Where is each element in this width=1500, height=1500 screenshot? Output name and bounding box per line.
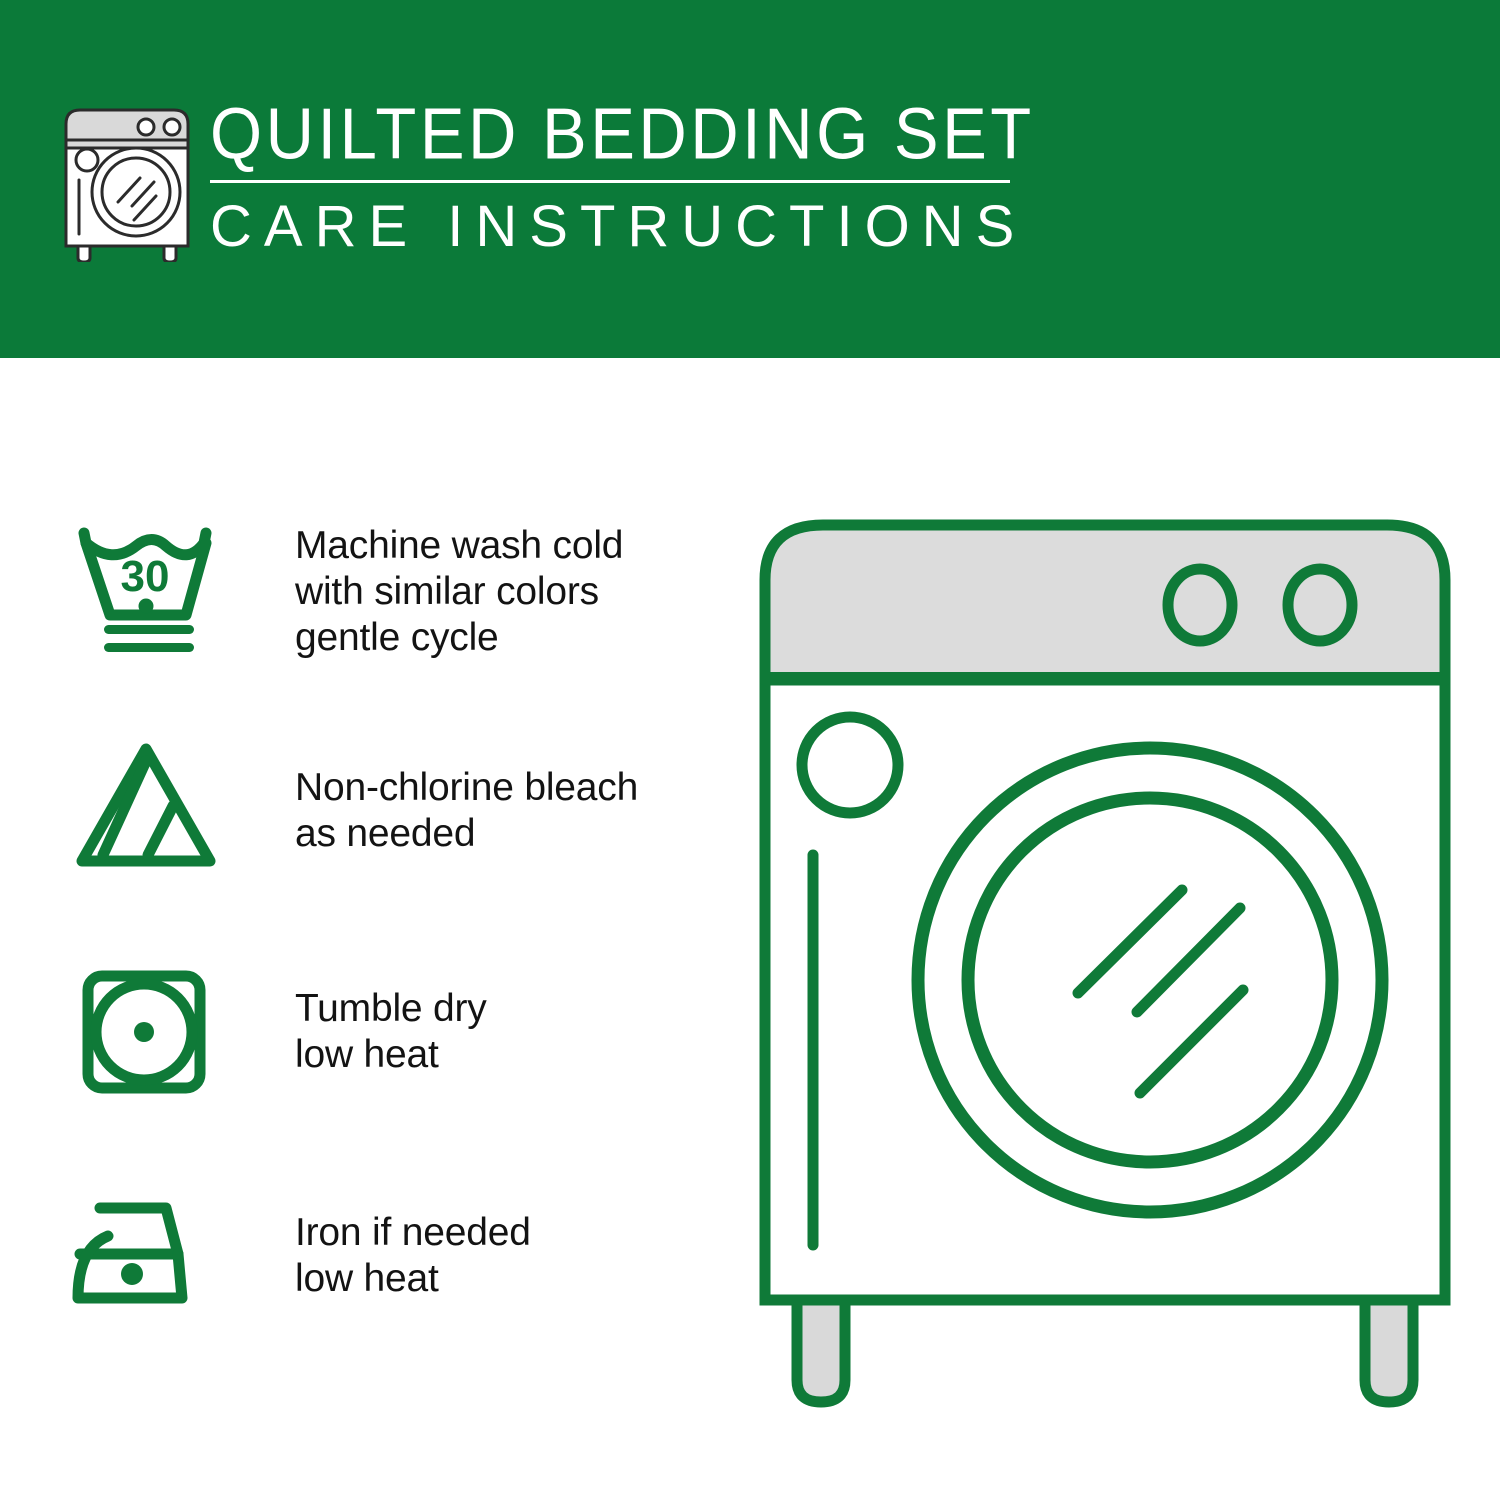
- care-symbol-list: 30 Machine wash cold with similar colors…: [0, 358, 740, 1500]
- header-banner: QUILTED BEDDING SET CARE INSTRUCTIONS: [0, 0, 1500, 358]
- header-text-block: QUILTED BEDDING SET CARE INSTRUCTIONS: [210, 96, 1040, 258]
- care-symbol-label: Machine wash cold with similar colors ge…: [295, 523, 623, 661]
- care-symbol-row-iron: Iron if needed low heat: [70, 1186, 710, 1336]
- care-symbol-row-bleach: Non-chlorine bleach as needed: [70, 733, 710, 883]
- wash-tub-30-gentle-icon: 30: [70, 513, 230, 663]
- knob-left: [1168, 569, 1232, 641]
- washing-machine-icon: [62, 104, 192, 262]
- iron-low-heat-icon: [70, 1186, 230, 1336]
- care-symbol-label: Non-chlorine bleach as needed: [295, 765, 638, 857]
- care-symbol-label: Iron if needed low heat: [295, 1210, 531, 1302]
- tumble-dry-low-heat-icon: [70, 958, 230, 1108]
- page-subtitle: CARE INSTRUCTIONS: [210, 196, 1040, 258]
- care-symbol-label: Tumble dry low heat: [295, 986, 487, 1078]
- svg-text:30: 30: [121, 552, 170, 601]
- knob-right: [1288, 569, 1352, 641]
- front-load-washing-machine-illustration: [745, 500, 1465, 1430]
- care-symbol-row-tumble-dry: Tumble dry low heat: [70, 958, 710, 1108]
- triangle-non-chlorine-bleach-icon: [70, 733, 230, 883]
- title-divider: [210, 180, 1010, 183]
- page-title: QUILTED BEDDING SET: [210, 96, 1040, 174]
- care-symbol-row-wash: 30 Machine wash cold with similar colors…: [70, 513, 710, 663]
